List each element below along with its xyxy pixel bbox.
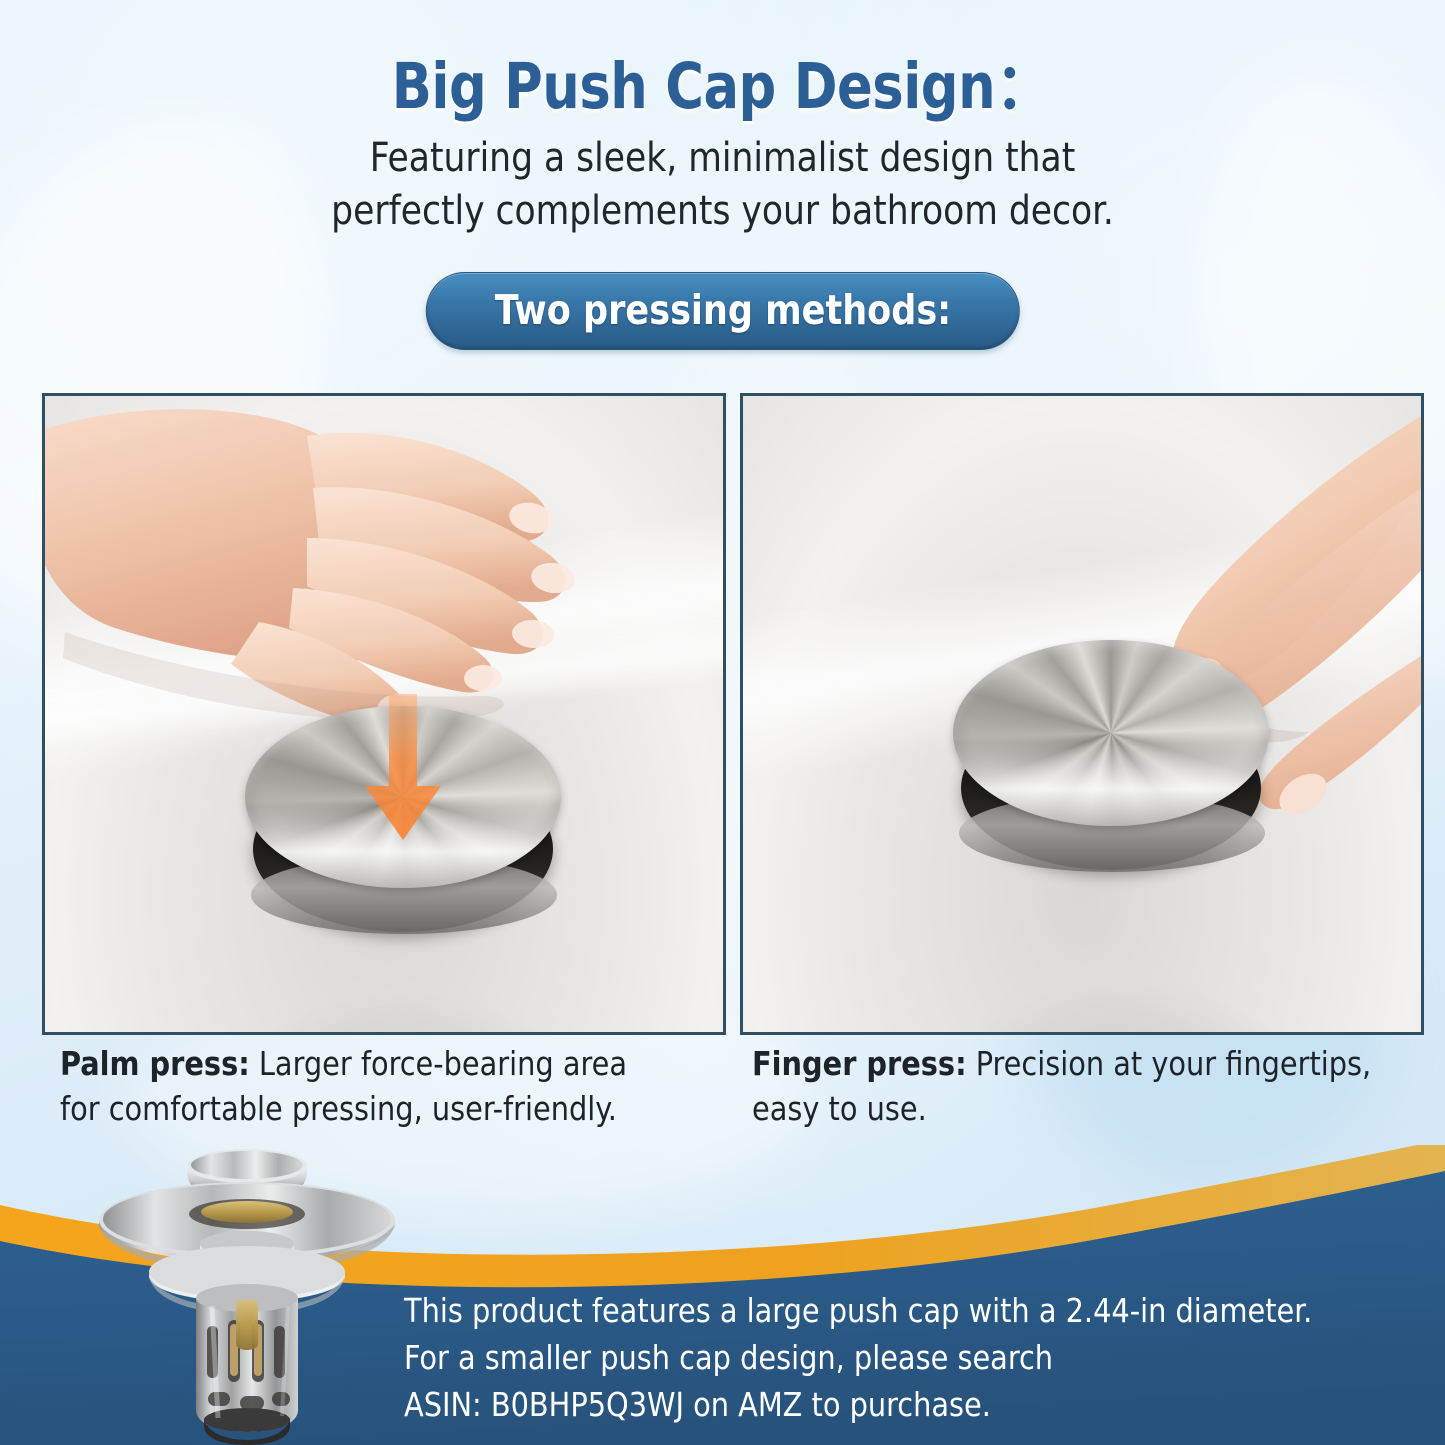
footer-line-2: For a smaller push cap design, please se…	[404, 1335, 1384, 1382]
infographic-canvas: Big Push Cap Design： Featuring a sleek, …	[0, 0, 1445, 1445]
page-subtitle: Featuring a sleek, minimalist design tha…	[29, 132, 1416, 238]
footer-line-1: This product features a large push cap w…	[404, 1288, 1384, 1335]
palm-press-photo	[45, 396, 723, 1032]
push-cap-finger	[953, 616, 1273, 916]
down-arrow-icon	[363, 694, 443, 844]
finger-press-photo	[743, 396, 1421, 1032]
subtitle-line-2: perfectly complements your bathroom deco…	[29, 185, 1416, 238]
photo-panel-palm-press	[42, 393, 726, 1035]
badge-label: Two pressing methods:	[494, 286, 950, 334]
footer-line-3: ASIN: B0BHP5Q3WJ on AMZ to purchase.	[404, 1382, 1384, 1429]
cap-edge-highlight	[953, 640, 1269, 826]
page-title: Big Push Cap Design：	[51, 36, 1395, 127]
caption-text-palm-2: for comfortable pressing, user-friendly.	[60, 1089, 617, 1128]
footer-banner-text: This product features a large push cap w…	[404, 1288, 1384, 1429]
caption-label-palm: Palm press:	[60, 1044, 250, 1083]
caption-palm-press: Palm press: Larger force-bearing area fo…	[60, 1042, 720, 1132]
caption-finger-press: Finger press: Precision at your fingerti…	[752, 1042, 1421, 1132]
subtitle-line-1: Featuring a sleek, minimalist design tha…	[29, 132, 1416, 185]
caption-text-finger-2: easy to use.	[752, 1089, 927, 1128]
caption-label-finger: Finger press:	[752, 1044, 967, 1083]
two-pressing-methods-badge: Two pressing methods:	[425, 272, 1019, 350]
caption-text-palm-1: Larger force-bearing area	[250, 1044, 627, 1083]
photo-panel-finger-press	[740, 393, 1424, 1035]
caption-text-finger-1: Precision at your fingertips,	[967, 1044, 1372, 1083]
product-image-drain-stopper	[92, 1148, 402, 1445]
